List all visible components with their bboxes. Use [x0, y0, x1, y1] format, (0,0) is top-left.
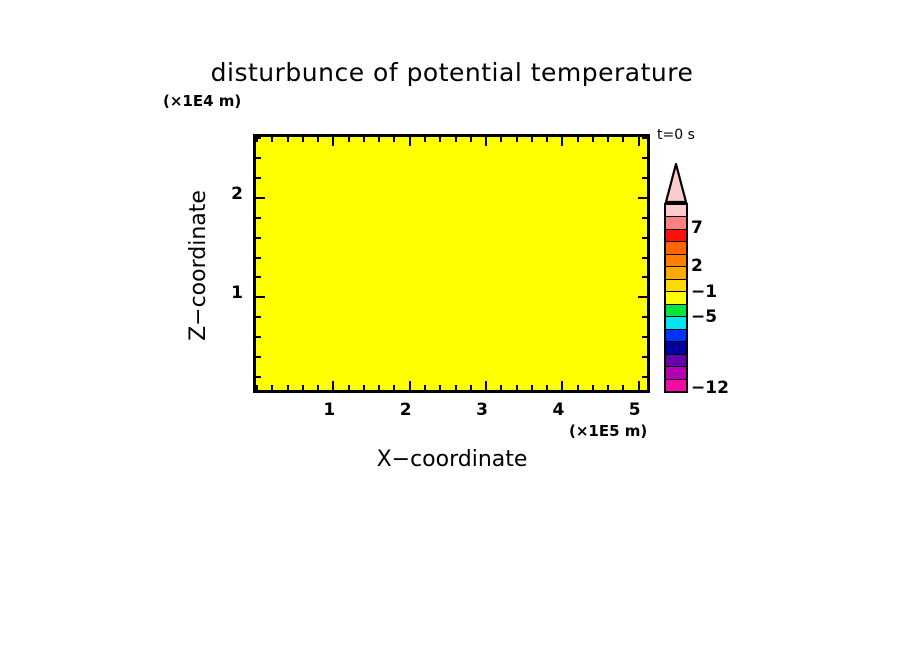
heatmap-field	[256, 137, 647, 390]
axis-tick	[642, 217, 647, 219]
colorbar-tick-label: −5	[691, 307, 717, 327]
colorbar-band	[666, 367, 686, 379]
colorbar-tick-label: 7	[691, 218, 703, 238]
axis-tick	[348, 137, 350, 142]
colorbar	[664, 163, 688, 393]
axis-tick	[271, 137, 273, 142]
colorbar-band	[666, 280, 686, 292]
axis-tick	[378, 385, 380, 390]
colorbar-band	[666, 317, 686, 329]
x-tick-label: 3	[476, 400, 488, 420]
axis-tick	[302, 137, 304, 142]
axis-tick	[622, 137, 624, 142]
axis-tick	[577, 385, 579, 390]
axis-tick	[256, 197, 265, 199]
axis-tick	[424, 137, 426, 142]
axis-tick	[332, 137, 334, 146]
axis-tick	[256, 137, 261, 139]
x-tick-label: 2	[400, 400, 412, 420]
axis-tick	[256, 385, 258, 390]
colorbar-band	[666, 242, 686, 254]
axis-tick	[638, 381, 640, 390]
colorbar-band	[666, 305, 686, 317]
axis-tick	[317, 137, 319, 142]
axis-tick	[561, 137, 563, 146]
axis-tick	[607, 385, 609, 390]
axis-tick	[363, 137, 365, 142]
axis-tick	[592, 137, 594, 142]
colorbar-band	[666, 205, 686, 217]
axis-tick	[500, 385, 502, 390]
axis-tick	[470, 385, 472, 390]
axis-tick	[302, 385, 304, 390]
x-axis-title: X−coordinate	[0, 447, 904, 472]
axis-tick	[256, 257, 261, 259]
axis-tick	[642, 276, 647, 278]
x-tick-label: 5	[629, 400, 641, 420]
x-tick-label: 1	[323, 400, 335, 420]
colorbar-band	[666, 355, 686, 367]
axis-tick	[638, 137, 640, 146]
y-tick-label: 2	[221, 184, 243, 204]
axis-tick	[393, 137, 395, 142]
axis-tick	[287, 385, 289, 390]
plot-area	[253, 134, 650, 393]
axis-tick	[638, 197, 647, 199]
y-axis-title-text: Z−coordinate	[186, 190, 211, 341]
axis-tick	[271, 385, 273, 390]
colorbar-band	[666, 330, 686, 342]
axis-tick	[256, 296, 265, 298]
colorbar-band	[666, 292, 686, 304]
y-tick-label: 1	[221, 283, 243, 303]
axis-tick	[531, 137, 533, 142]
axis-tick	[256, 177, 261, 179]
axis-tick	[439, 385, 441, 390]
colorbar-tick-label: −12	[691, 378, 729, 398]
axis-tick	[256, 217, 261, 219]
axis-tick	[546, 385, 548, 390]
axis-tick	[287, 137, 289, 142]
axis-tick	[561, 381, 563, 390]
axis-tick	[577, 137, 579, 142]
colorbar-band	[666, 342, 686, 354]
time-annotation: t=0 s	[657, 127, 695, 143]
axis-tick	[363, 385, 365, 390]
axis-tick	[393, 385, 395, 390]
axis-tick	[592, 385, 594, 390]
axis-tick	[256, 376, 261, 378]
colorbar-band	[666, 255, 686, 267]
axis-tick	[332, 381, 334, 390]
colorbar-bands	[664, 203, 688, 393]
colorbar-band	[666, 217, 686, 229]
axis-tick	[455, 137, 457, 142]
axis-tick	[455, 385, 457, 390]
axis-tick	[642, 237, 647, 239]
axis-tick	[409, 381, 411, 390]
axis-tick	[638, 296, 647, 298]
axis-tick	[642, 336, 647, 338]
figure-canvas: disturbunce of potential temperature (×1…	[0, 0, 904, 654]
axis-tick	[424, 385, 426, 390]
axis-tick	[516, 385, 518, 390]
axis-tick	[378, 137, 380, 142]
axis-tick	[642, 177, 647, 179]
colorbar-extend-arrow-icon	[664, 163, 688, 203]
axis-tick	[439, 137, 441, 142]
axis-tick	[642, 316, 647, 318]
y-axis-unit-label: (×1E4 m)	[163, 92, 241, 110]
axis-tick	[409, 137, 411, 146]
axis-tick	[256, 336, 261, 338]
axis-tick	[485, 137, 487, 146]
axis-tick	[256, 157, 261, 159]
axis-tick	[531, 385, 533, 390]
axis-tick	[256, 276, 261, 278]
axis-tick	[348, 385, 350, 390]
axis-tick	[642, 376, 647, 378]
axis-tick	[642, 356, 647, 358]
colorbar-band	[666, 267, 686, 279]
axis-tick	[642, 257, 647, 259]
x-tick-label: 4	[552, 400, 564, 420]
y-axis-title: Z−coordinate	[178, 160, 218, 370]
colorbar-band	[666, 230, 686, 242]
axis-tick	[256, 316, 261, 318]
axis-tick	[500, 137, 502, 142]
colorbar-band	[666, 380, 686, 391]
colorbar-tick-label: −1	[691, 282, 717, 302]
page-title: disturbunce of potential temperature	[0, 58, 904, 87]
axis-tick	[642, 157, 647, 159]
axis-tick	[317, 385, 319, 390]
axis-tick	[256, 356, 261, 358]
axis-tick	[607, 137, 609, 142]
axis-tick	[516, 137, 518, 142]
axis-tick	[470, 137, 472, 142]
colorbar-tick-label: 2	[691, 256, 703, 276]
axis-tick	[256, 237, 261, 239]
axis-tick	[622, 385, 624, 390]
axis-tick	[546, 137, 548, 142]
x-axis-unit-label: (×1E5 m)	[569, 422, 647, 440]
axis-tick	[485, 381, 487, 390]
axis-tick	[642, 137, 647, 139]
